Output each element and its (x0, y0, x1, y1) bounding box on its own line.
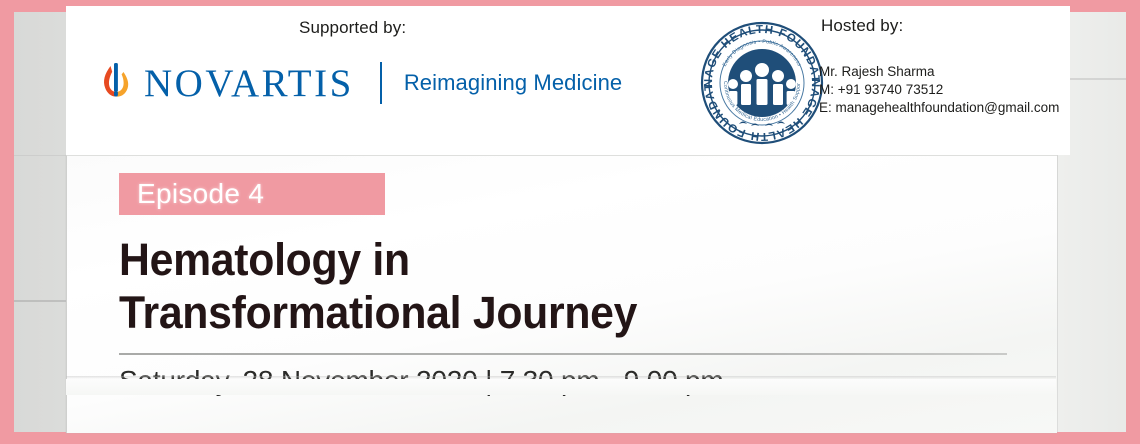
episode-badge: Episode 4 (119, 173, 385, 215)
title-divider-rule (119, 353, 1007, 355)
novartis-wordmark: NOVARTIS (144, 64, 354, 103)
sponsor-header-card: Supported by: Hosted by: NOVARTIS Reimag… (66, 6, 1070, 155)
wall-seam-horizontal-upper (14, 155, 74, 156)
host-contact-block: Mr. Rajesh Sharma M: +91 93740 73512 E: … (819, 63, 1059, 117)
slide-title-line-1: Hematology in (119, 233, 974, 286)
novartis-tagline: Reimagining Medicine (404, 72, 622, 94)
webinar-banner-screenshot: Episode 4 Hematology in Transformational… (0, 0, 1140, 444)
hosted-by-label: Hosted by: (821, 16, 903, 36)
supported-by-label: Supported by: (299, 18, 406, 38)
host-contact-email: E: managehealthfoundation@gmail.com (819, 99, 1059, 117)
host-contact-name: Mr. Rajesh Sharma (819, 63, 1059, 81)
novartis-divider (380, 62, 382, 104)
novartis-logo-lockup: NOVARTIS Reimagining Medicine (102, 62, 622, 104)
host-contact-mobile: M: +91 93740 73512 (819, 81, 1059, 99)
manage-health-foundation-seal-icon: MANAGE HEALTH FOUNDATION MANAGE HEALTH F… (699, 20, 825, 146)
slide-title-line-2: Transformational Journey (119, 286, 974, 339)
slide-title: Hematology in Transformational Journey (119, 233, 974, 339)
novartis-flame-icon (102, 62, 132, 104)
slide-bottom-band (66, 379, 1056, 395)
episode-badge-label: Episode 4 (119, 178, 264, 210)
